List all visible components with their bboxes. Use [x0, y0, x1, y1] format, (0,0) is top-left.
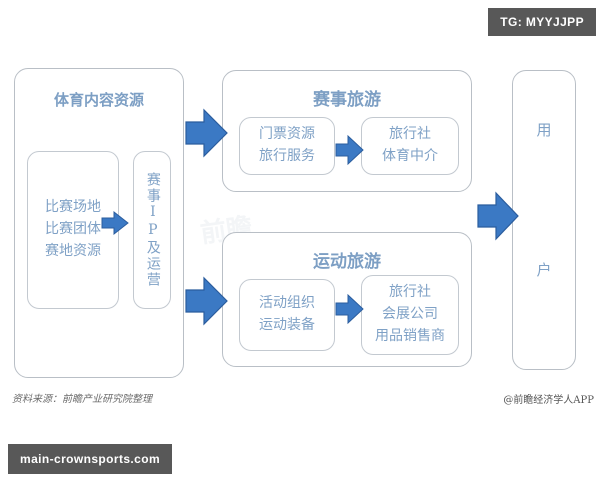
tg-watermark-badge: TG: MYYJJPP — [488, 8, 596, 36]
box-line: 旅行社 — [389, 124, 431, 146]
panel-title-sports-content-resources: 体育内容资源 — [15, 89, 183, 110]
panel-event-tourism: 赛事旅游 门票资源 旅行服务 旅行社 体育中介 — [222, 70, 472, 192]
box-line: 比赛场地 — [45, 197, 101, 219]
box-line: 赛地资源 — [45, 241, 101, 263]
box-line: 门票资源 — [259, 124, 315, 146]
box-line: 旅行社 — [389, 282, 431, 304]
box-line: 比赛团体 — [45, 219, 101, 241]
panel-title-sports-tourism: 运动旅游 — [223, 247, 471, 272]
box-agency-exhibition-retail: 旅行社 会展公司 用品销售商 — [361, 275, 459, 355]
box-line: 活动组织 — [259, 293, 315, 315]
panel-title-event-tourism: 赛事旅游 — [223, 85, 471, 110]
box-competition-resources: 比赛场地 比赛团体 赛地资源 — [27, 151, 119, 309]
site-watermark-badge: main-crownsports.com — [8, 444, 172, 474]
box-line: 赛事IP及运营 — [141, 172, 163, 288]
user-char-first: 用 — [513, 119, 575, 140]
box-ticket-travel-service: 门票资源 旅行服务 — [239, 117, 335, 175]
box-line: 会展公司 — [382, 304, 438, 326]
source-note: 资料来源：前瞻产业研究院整理 — [12, 390, 152, 405]
app-attribution: @前瞻经济学人APP — [503, 391, 594, 406]
panel-sports-tourism: 运动旅游 活动组织 运动装备 旅行社 会展公司 用品销售商 — [222, 232, 472, 367]
arrow-right-icon-to-sports-tourism — [186, 278, 227, 324]
box-travel-agency-sports-agency: 旅行社 体育中介 — [361, 117, 459, 175]
arrow-right-icon-to-event-tourism — [186, 110, 227, 156]
panel-sports-content-resources: 体育内容资源 比赛场地 比赛团体 赛地资源 赛事IP及运营 — [14, 68, 184, 378]
flow-diagram: 体育内容资源 比赛场地 比赛团体 赛地资源 赛事IP及运营 赛事旅游 门票资源 … — [0, 0, 600, 480]
box-line: 体育中介 — [382, 146, 438, 168]
box-line: 旅行服务 — [259, 146, 315, 168]
panel-users: 用 户 — [512, 70, 576, 370]
box-line: 用品销售商 — [375, 326, 445, 348]
box-event-ip-operation: 赛事IP及运营 — [133, 151, 171, 309]
user-char-second: 户 — [513, 259, 575, 280]
box-line: 运动装备 — [259, 315, 315, 337]
box-activity-equipment: 活动组织 运动装备 — [239, 279, 335, 351]
